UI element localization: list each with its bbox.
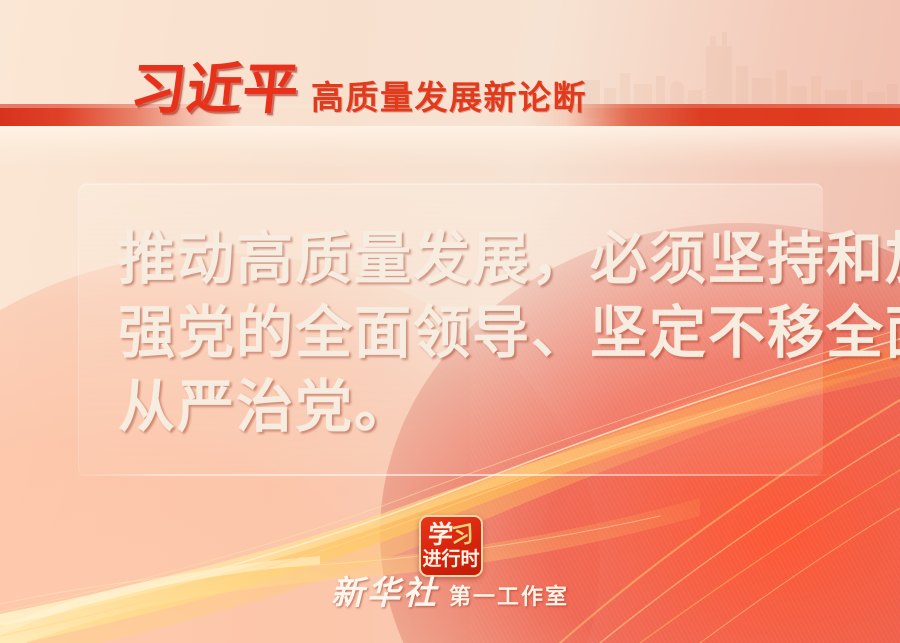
logo-char-xi: 习 xyxy=(450,522,474,550)
quote-text-block: 推动高质量发展，必须坚持和加 强党的全面领导、坚定不移全面 从严治党。 xyxy=(118,222,808,444)
poster-canvas: 习近平 高质量发展新论断 推动高质量发展，必须坚持和加 强党的全面领导、坚定不移… xyxy=(0,0,900,643)
footer-studio-name: 第一工作室 xyxy=(449,586,569,611)
footer-credit: 新华社 第一工作室 xyxy=(0,578,900,611)
logo-bottom-row: 进行时 xyxy=(422,550,479,569)
quote-line: 强党的全面领导、坚定不移全面 xyxy=(118,296,808,370)
header-haze-band xyxy=(0,126,900,168)
quote-line: 推动高质量发展，必须坚持和加 xyxy=(118,222,808,296)
brand-subtitle: 高质量发展新论断 xyxy=(311,81,587,117)
quote-panel-bottom-rule xyxy=(78,474,838,476)
brand-name: 习近平 xyxy=(128,62,302,117)
logo-top-row: 学 习 xyxy=(428,523,474,548)
xuexi-jinxingshi-logo[interactable]: 学 习 进行时 xyxy=(419,515,483,577)
page-title: 习近平 高质量发展新论断 xyxy=(131,62,587,117)
footer-agency-name: 新华社 xyxy=(331,578,439,611)
quote-line: 从严治党。 xyxy=(118,370,808,444)
skyline-watermark-icon xyxy=(580,18,900,118)
